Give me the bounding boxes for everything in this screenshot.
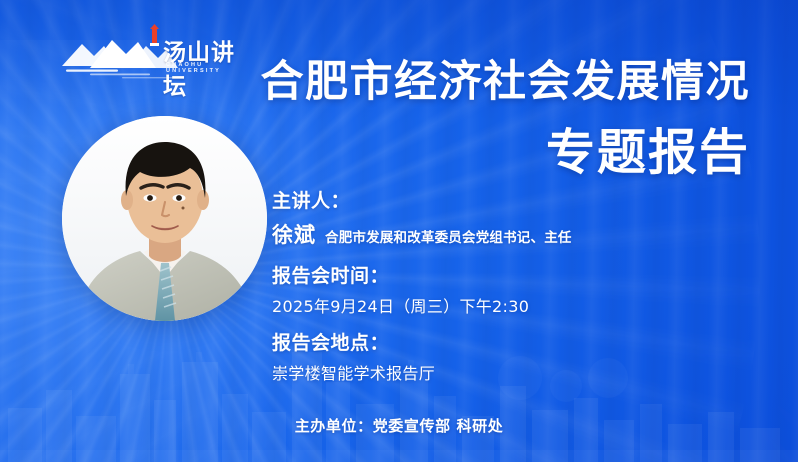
place-value: 崇学楼智能学术报告厅 — [272, 360, 692, 384]
time-value: 2025年9月24日（周三）下午2:30 — [272, 293, 692, 317]
speaker-label: 主讲人： — [272, 188, 692, 214]
page-title: 合肥市经济社会发展情况 专题报告 — [261, 56, 751, 182]
logo-name-en: CHAOHU UNIVERSITY — [166, 62, 235, 74]
time-label: 报告会时间： — [272, 263, 692, 289]
headline-line-2: 专题报告 — [261, 124, 751, 182]
speaker-name: 徐斌 — [272, 219, 316, 249]
event-poster: 汤山讲坛 CHAOHU UNIVERSITY 合肥市经济社会发展情况 专题报告 — [0, 0, 798, 462]
speaker-row: 徐斌 合肥市发展和改革委员会党组书记、主任 — [272, 219, 692, 249]
brand-logo[interactable]: 汤山讲坛 CHAOHU UNIVERSITY — [60, 22, 235, 82]
place-label: 报告会地点： — [272, 330, 692, 356]
event-details: 主讲人： 徐斌 合肥市发展和改革委员会党组书记、主任 报告会时间： 2025年9… — [272, 188, 692, 397]
organizer-footer: 主办单位：党委宣传部 科研处 — [0, 415, 798, 436]
speaker-portrait — [62, 116, 267, 321]
speaker-title: 合肥市发展和改革委员会党组书记、主任 — [325, 226, 572, 246]
headline-line-1: 合肥市经济社会发展情况 — [261, 56, 751, 108]
